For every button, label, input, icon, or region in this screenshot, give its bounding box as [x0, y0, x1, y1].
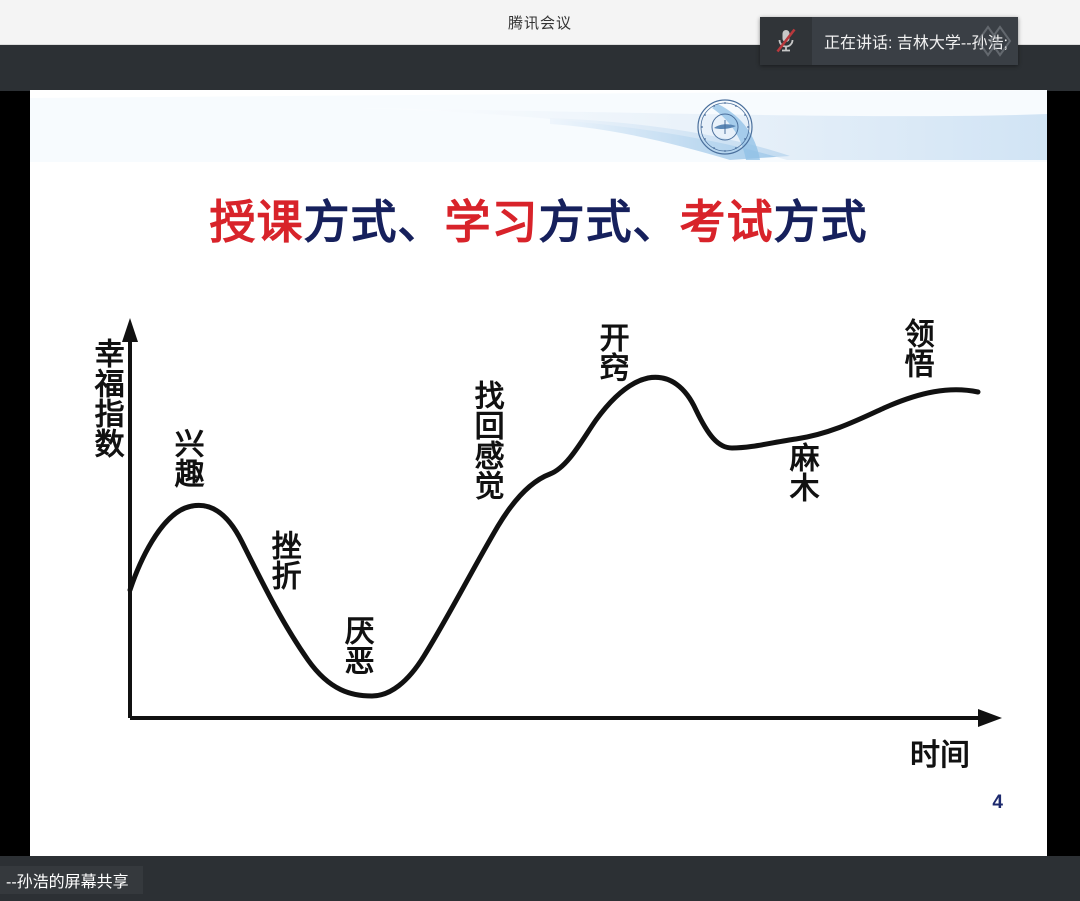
mic-muted-glyph: [774, 28, 798, 54]
annotation-regain-feeling: 找回感觉: [470, 380, 501, 500]
annotation-enlightenment: 开窍: [595, 322, 626, 382]
speaking-indicator[interactable]: 正在讲话: 吉林大学--孙浩;: [760, 17, 1018, 65]
x-axis: [130, 709, 1002, 727]
slide-page-number: 4: [992, 792, 1003, 814]
meeting-bottom-bar: [0, 856, 1080, 901]
audio-wave-icon: [972, 17, 1018, 65]
window-title: 腾讯会议: [508, 12, 572, 33]
y-axis-label: 幸福指数: [90, 338, 121, 458]
happiness-curve: [130, 377, 978, 696]
annotation-interest: 兴趣: [170, 428, 201, 488]
microphone-muted-icon: [760, 17, 812, 65]
meeting-window: 腾讯会议 --孙浩的屏幕共享: [0, 0, 1080, 901]
annotation-aversion: 厌恶: [340, 615, 371, 675]
annotation-numbness: 麻木: [785, 442, 816, 502]
shared-slide: 授课方式、学习方式、考试方式 幸福指数 时间 兴趣: [30, 90, 1047, 856]
happiness-index-chart: 幸福指数 时间 兴趣 挫折 厌恶 找回感觉 开窍 麻木 领悟: [30, 90, 1047, 856]
annotation-comprehension: 领悟: [900, 318, 931, 378]
x-axis-label: 时间: [910, 730, 970, 774]
screen-share-indicator: --孙浩的屏幕共享: [0, 866, 143, 894]
annotation-setback: 挫折: [267, 530, 298, 590]
screen-share-label: --孙浩的屏幕共享: [6, 868, 129, 892]
y-axis: [122, 318, 138, 718]
